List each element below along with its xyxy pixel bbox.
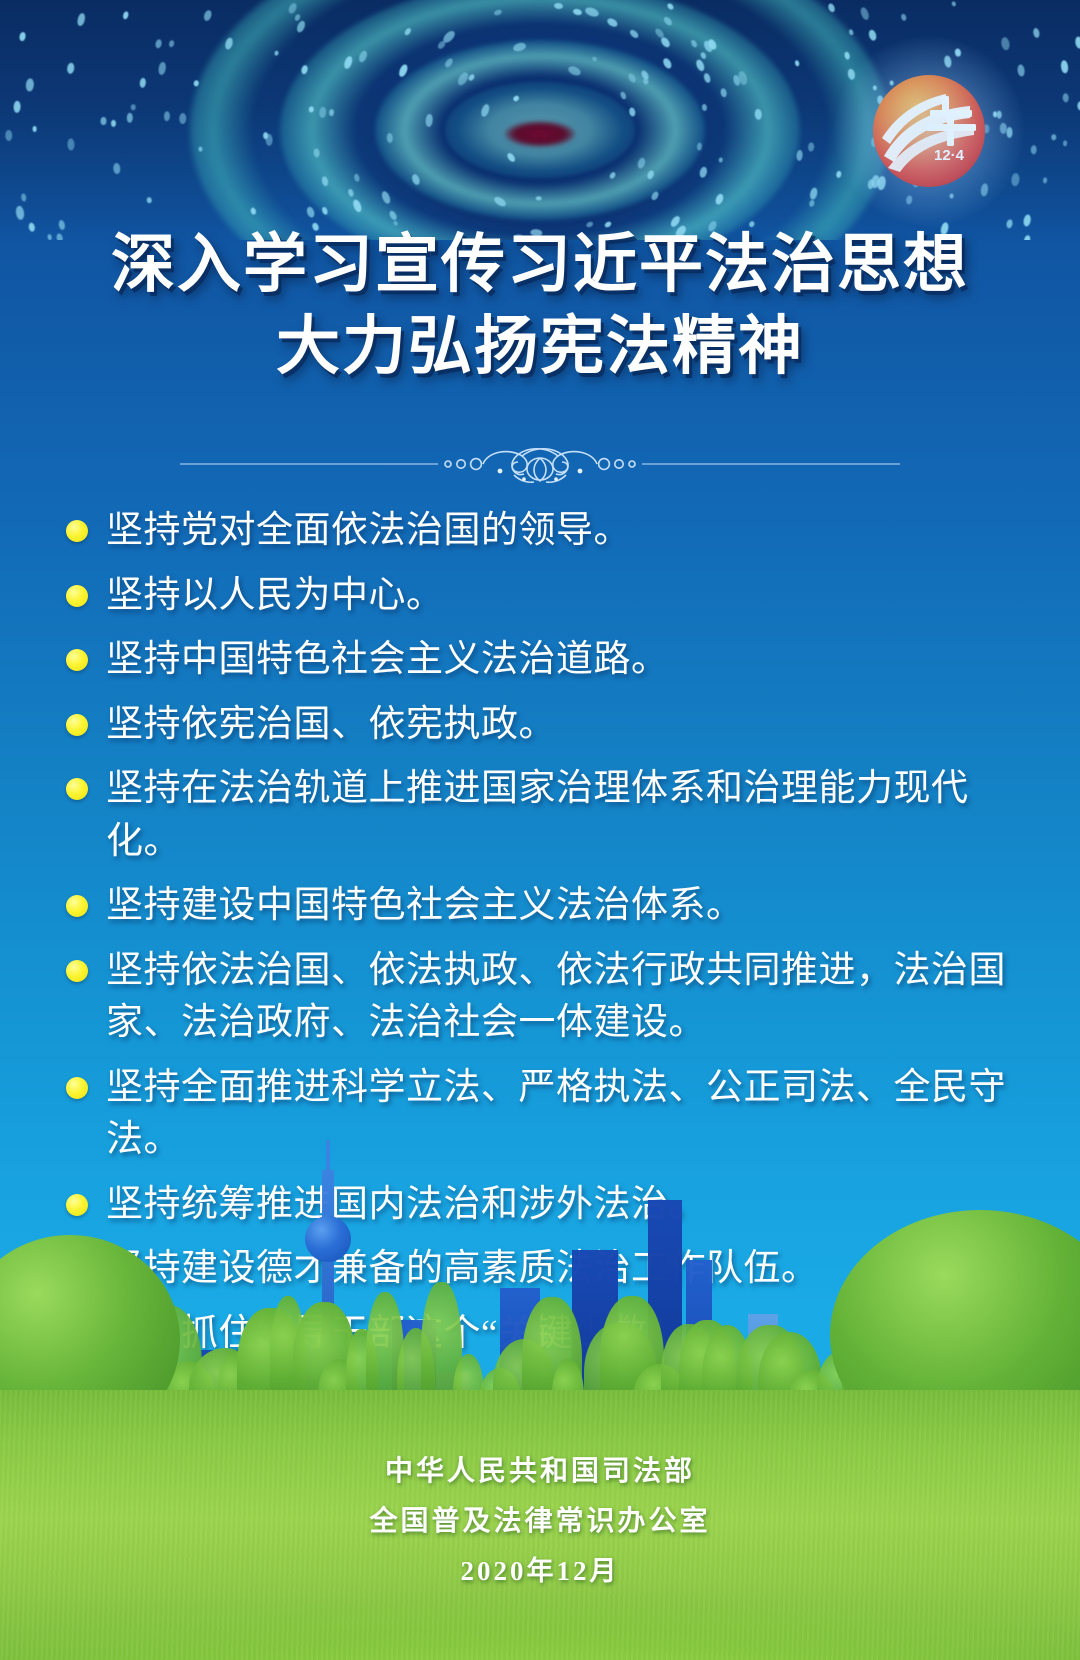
logo-glow (834, 36, 1024, 226)
constitution-day-logo: 12·4 (870, 72, 988, 190)
footer-line-ministry: 中华人民共和国司法部 (0, 1449, 1080, 1489)
bullet-dot-icon (66, 714, 88, 736)
tower-upper-sphere (305, 1216, 351, 1262)
list-item: 坚持党对全面依法治国的领导。 (66, 505, 1016, 558)
bullet-dot-icon (66, 960, 88, 982)
list-item-label: 坚持在法治轨道上推进国家治理体系和治理能力现代化。 (106, 763, 1016, 868)
list-item-label: 坚持以人民为中心。 (106, 570, 444, 623)
bullet-dot-icon (66, 649, 88, 671)
list-item: 坚持依宪治国、依宪执政。 (66, 699, 1016, 752)
bullet-dot-icon (66, 520, 88, 542)
bullet-dot-icon (66, 585, 88, 607)
footer-line-date: 2020年12月 (0, 1549, 1080, 1588)
bullet-dot-icon (66, 895, 88, 917)
poster-footer: 中华人民共和国司法部 全国普及法律常识办公室 2020年12月 (0, 1449, 1080, 1588)
footer-line-office: 全国普及法律常识办公室 (0, 1499, 1080, 1539)
list-item-label: 坚持建设中国特色社会主义法治体系。 (106, 880, 744, 933)
list-item: 坚持在法治轨道上推进国家治理体系和治理能力现代化。 (66, 763, 1016, 868)
poster: 12·4 深入学习宣传习近平法治思想 大力弘扬宪法精神 (0, 0, 1080, 1660)
list-item-label: 坚持党对全面依法治国的领导。 (106, 505, 631, 558)
list-item: 坚持依法治国、依法执政、依法行政共同推进，法治国家、法治政府、法治社会一体建设。 (66, 945, 1016, 1050)
list-item: 坚持建设中国特色社会主义法治体系。 (66, 880, 1016, 933)
poster-title: 深入学习宣传习近平法治思想 大力弘扬宪法精神 (0, 228, 1080, 384)
list-item-label: 坚持依宪治国、依宪执政。 (106, 699, 556, 752)
title-line-2: 大力弘扬宪法精神 (0, 310, 1080, 384)
title-line-1: 深入学习宣传习近平法治思想 (0, 228, 1080, 302)
list-item: 坚持以人民为中心。 (66, 570, 1016, 623)
ornamental-divider (180, 440, 900, 486)
list-item-label: 坚持中国特色社会主义法治道路。 (106, 634, 669, 687)
list-item: 坚持中国特色社会主义法治道路。 (66, 634, 1016, 687)
bullet-dot-icon (66, 1077, 88, 1099)
list-item-label: 坚持依法治国、依法执政、依法行政共同推进，法治国家、法治政府、法治社会一体建设。 (106, 945, 1016, 1050)
flourish-divider-icon (180, 441, 900, 485)
bullet-dot-icon (66, 778, 88, 800)
